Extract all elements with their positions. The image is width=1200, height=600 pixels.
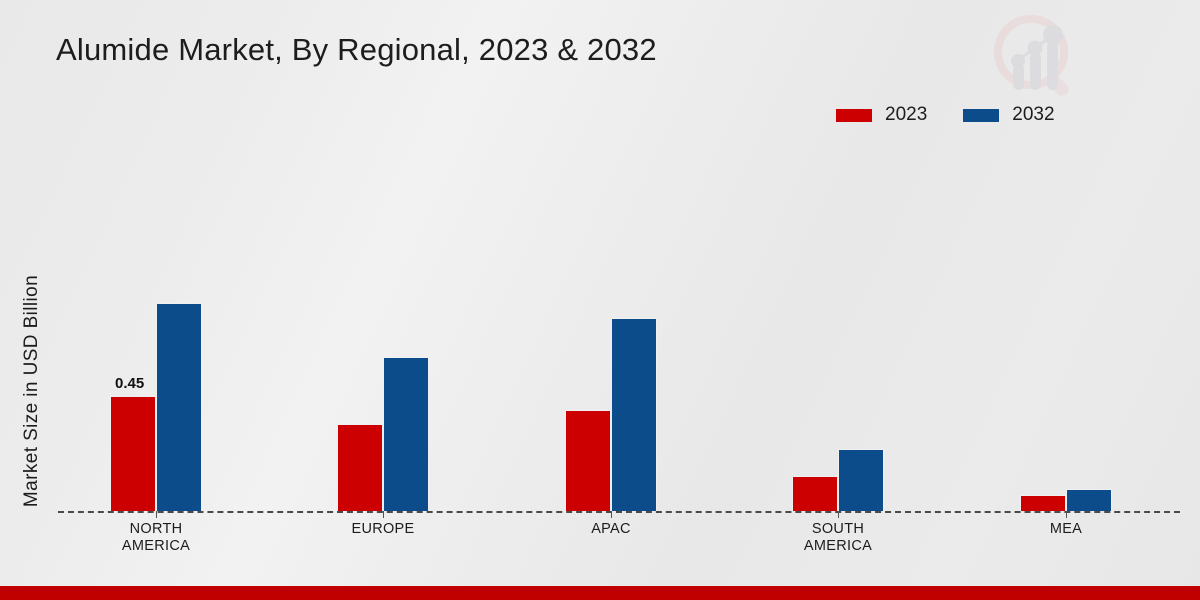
axis-tick-north-america [156,511,157,518]
bar-2023-mea[interactable] [1020,495,1066,511]
bar-2023-south-america[interactable] [792,476,838,511]
axis-tick-south-america [838,511,839,518]
x-axis-label-line: AMERICA [61,538,251,555]
bar-2032-south-america[interactable] [838,449,884,511]
x-axis-label-mea: MEA [971,521,1161,538]
x-axis-label-line: APAC [516,521,706,538]
chart-page: Alumide Market, By Regional, 2023 & 2032… [0,0,1200,600]
x-axis-label-line: MEA [971,521,1161,538]
bars-europe [337,357,429,511]
bar-2023-europe[interactable] [337,424,383,511]
x-axis-label-north-america: NORTH AMERICA [61,521,251,555]
bars-mea [1020,489,1112,511]
x-axis-label-line: AMERICA [743,538,933,555]
bars-apac [565,318,657,511]
bar-2032-mea[interactable] [1066,489,1112,511]
axis-tick-apac [611,511,612,518]
bars-south-america [792,449,884,511]
axis-tick-mea [1066,511,1067,518]
x-axis-label-europe: EUROPE [288,521,478,538]
bars-north-america [110,303,202,511]
bar-2023-apac[interactable] [565,410,611,511]
bar-2032-north-america[interactable] [156,303,202,511]
plot-area: 0.45 NORTH AMERICA EUROPE APAC [0,0,1200,600]
x-axis-label-south-america: SOUTH AMERICA [743,521,933,555]
x-axis-label-line: EUROPE [288,521,478,538]
bar-value-2023-north-america: 0.45 [115,375,144,392]
bar-2023-north-america[interactable] [110,396,156,511]
x-axis-label-apac: APAC [516,521,706,538]
bottom-accent-strip [0,586,1200,600]
bar-2032-apac[interactable] [611,318,657,511]
axis-tick-europe [383,511,384,518]
x-axis-label-line: NORTH [61,521,251,538]
bar-2032-europe[interactable] [383,357,429,511]
x-axis-label-line: SOUTH [743,521,933,538]
x-axis-line [58,511,1180,513]
